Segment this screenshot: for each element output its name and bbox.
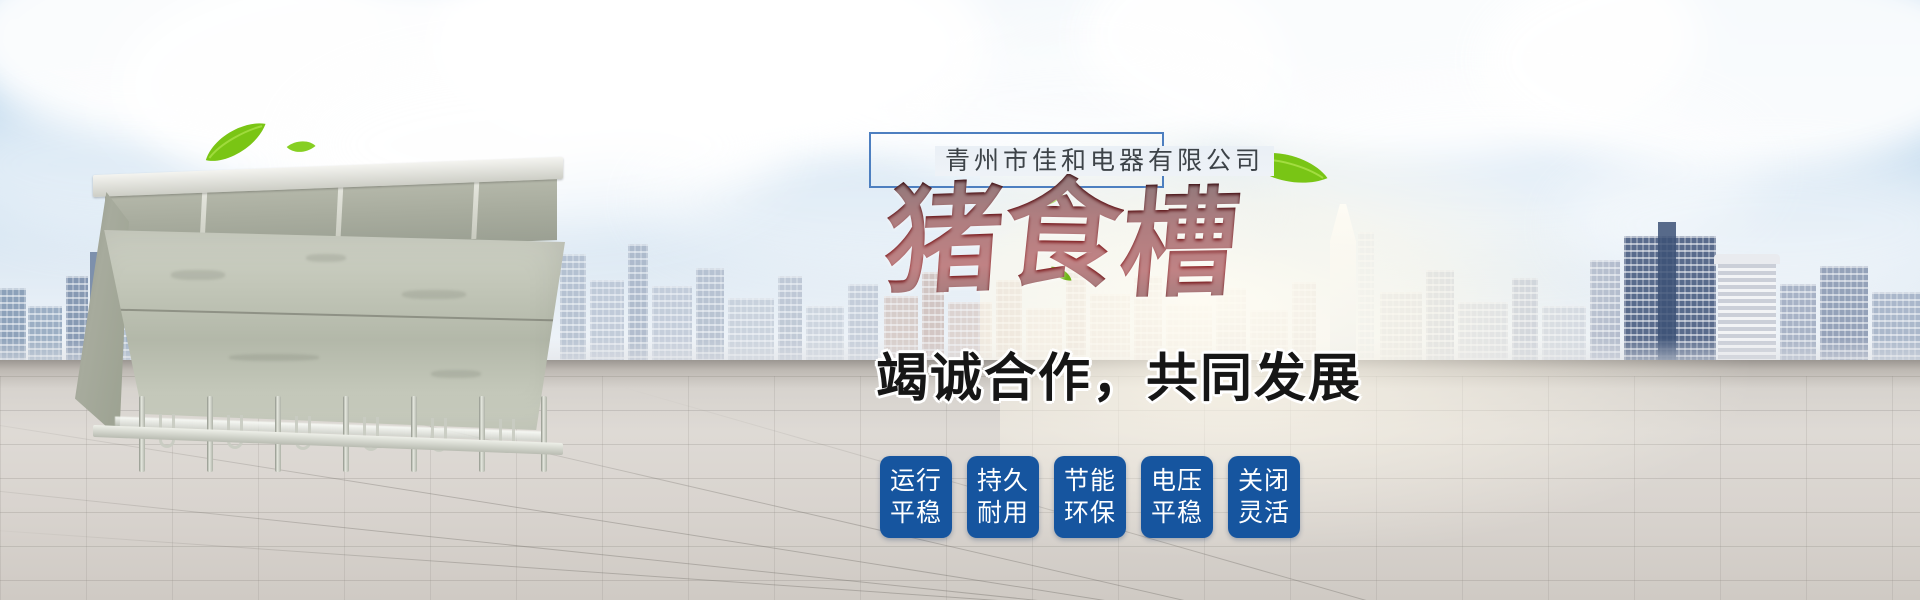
headline-char: 食 <box>997 173 1127 295</box>
slogan-subtitle: 竭诚合作，共同发展 <box>876 336 1362 411</box>
badge-line-1: 节能 <box>1064 465 1116 497</box>
feature-badge-list: 运行 平稳 持久 耐用 节能 环保 电压 平稳 关闭 灵活 <box>880 456 1300 538</box>
feature-badge-3[interactable]: 节能 环保 <box>1054 456 1126 538</box>
badge-line-1: 持久 <box>977 465 1029 497</box>
headline-char: 槽 <box>1115 183 1244 305</box>
badge-line-2: 平稳 <box>1151 497 1203 529</box>
badge-line-2: 灵活 <box>1238 497 1290 529</box>
feature-badge-2[interactable]: 持久 耐用 <box>967 456 1039 538</box>
badge-line-1: 电压 <box>1151 465 1203 497</box>
feature-badge-5[interactable]: 关闭 灵活 <box>1228 456 1300 538</box>
banner-text-content: 青州市佳和电器有限公司 猪食槽 竭诚合作，共同发展 运行 平稳 持久 耐用 节能… <box>0 0 1920 600</box>
page-title-headline: 猪食槽 <box>885 180 1305 320</box>
badge-line-2: 平稳 <box>890 497 942 529</box>
feature-badge-4[interactable]: 电压 平稳 <box>1141 456 1213 538</box>
feature-badge-1[interactable]: 运行 平稳 <box>880 456 952 538</box>
headline-char: 猪 <box>881 178 1008 302</box>
badge-line-2: 耐用 <box>977 497 1029 529</box>
badge-line-2: 环保 <box>1064 497 1116 529</box>
badge-line-1: 运行 <box>890 465 942 497</box>
promotional-banner: 青州市佳和电器有限公司 猪食槽 竭诚合作，共同发展 运行 平稳 持久 耐用 节能… <box>0 0 1920 600</box>
badge-line-1: 关闭 <box>1238 465 1290 497</box>
